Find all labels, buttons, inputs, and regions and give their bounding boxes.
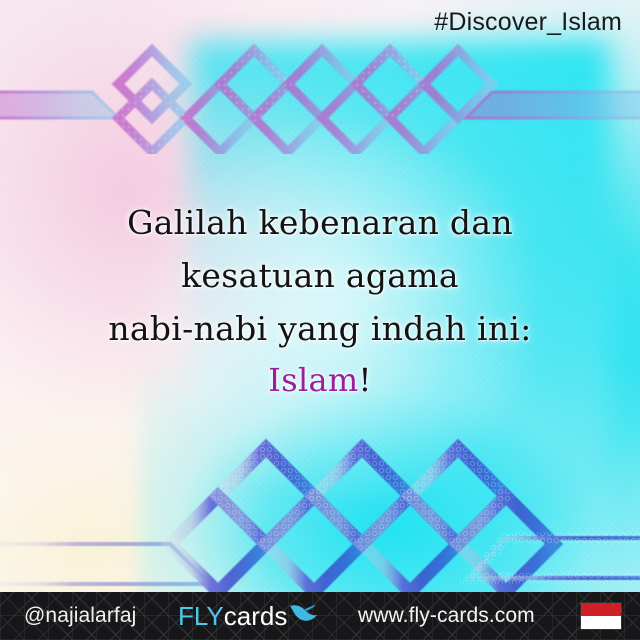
quote-line-1: Galilah kebenaran dan — [0, 196, 640, 249]
quote-line-2: kesatuan agama — [0, 249, 640, 302]
quote-highlight-line: Islam! — [0, 355, 640, 405]
greeting-card: #Discover_Islam Galilah kebenaran dan ke… — [0, 0, 640, 640]
quote-highlight-punctuation: ! — [359, 361, 372, 399]
hashtag-label: #Discover_Islam — [434, 8, 622, 37]
brand-logo[interactable]: FLYcards — [178, 601, 319, 632]
flag-stripe-white — [581, 616, 621, 629]
bird-icon — [289, 601, 319, 625]
quote-highlight-word: Islam — [268, 361, 358, 399]
quote-line-3: nabi-nabi yang indah ini: — [0, 302, 640, 355]
brand-name-primary: FLY — [178, 601, 224, 632]
flag-stripe-red — [581, 603, 621, 616]
website-url[interactable]: www.fly-cards.com — [358, 604, 535, 628]
top-ornament-icon — [0, 34, 640, 154]
bottom-ornament-icon — [0, 432, 640, 592]
footer-bar: @najialarfaj FLYcards www.fly-cards.com — [0, 592, 640, 640]
author-handle[interactable]: @najialarfaj — [24, 604, 136, 628]
quote-block: Galilah kebenaran dan kesatuan agama nab… — [0, 196, 640, 405]
indonesia-flag-icon — [580, 602, 622, 630]
brand-name-secondary: cards — [224, 601, 288, 632]
